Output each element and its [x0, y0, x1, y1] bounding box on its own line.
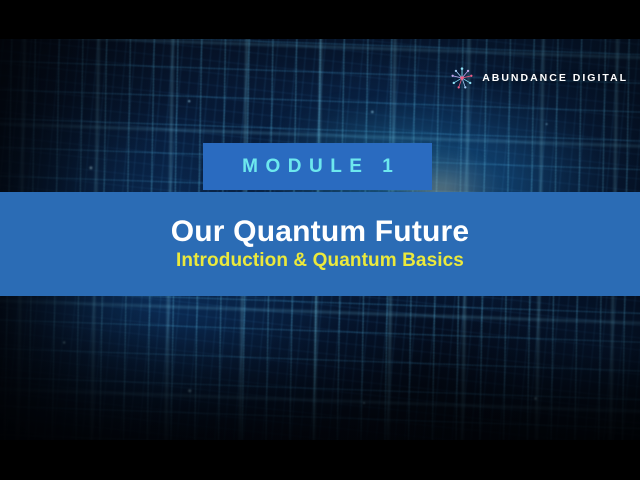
- presentation-slide: ABUNDANCE DIGITAL MODULE 1 Our Quantum F…: [0, 0, 640, 480]
- brand-wordmark: ABUNDANCE DIGITAL: [482, 72, 628, 84]
- module-badge-label: MODULE 1: [235, 156, 401, 178]
- starburst-sparkle-icon: [451, 67, 473, 89]
- slide-background-image: ABUNDANCE DIGITAL MODULE 1 Our Quantum F…: [0, 39, 640, 440]
- slide-subtitle: Introduction & Quantum Basics: [176, 251, 464, 272]
- title-band: Our Quantum Future Introduction & Quantu…: [0, 192, 640, 296]
- brand-lockup: ABUNDANCE DIGITAL: [451, 67, 628, 89]
- letterbox-top: [0, 0, 640, 39]
- module-badge: MODULE 1: [203, 143, 432, 190]
- slide-title: Our Quantum Future: [171, 216, 470, 248]
- letterbox-bottom: [0, 440, 640, 480]
